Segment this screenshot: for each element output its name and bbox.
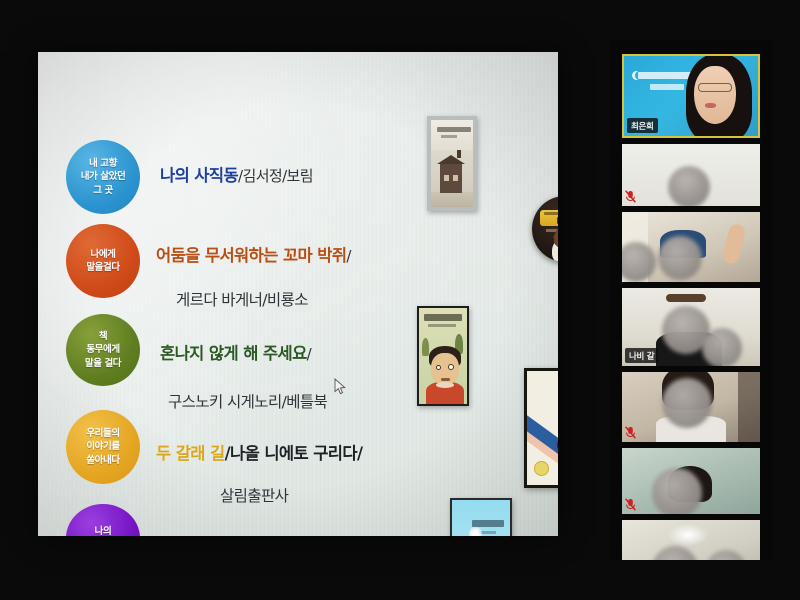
award-seal xyxy=(534,461,549,476)
circle-line: 나의 xyxy=(95,525,112,536)
mic-muted-icon xyxy=(625,190,636,203)
boy-mouth xyxy=(441,378,450,381)
circle-line: 내 고향 xyxy=(89,157,117,170)
presenter-lips xyxy=(705,103,716,108)
presenter-face xyxy=(694,66,736,124)
circle-line: 말을걸다 xyxy=(86,261,119,274)
video-tile-4[interactable]: 나비 갈 xyxy=(622,288,760,366)
blurred-face xyxy=(668,166,710,206)
book-slash: / xyxy=(307,345,311,363)
book-cover-dandelion xyxy=(450,498,512,536)
circle-hometown: 내 고향 내가 살았던 그 곳 xyxy=(66,140,140,214)
blurred-face xyxy=(702,328,742,366)
slide-text-line xyxy=(638,72,692,79)
blurred-face xyxy=(652,468,702,514)
book-author-publisher: 게르다 바게너/비룡소 xyxy=(176,288,308,310)
cover-title-bar xyxy=(544,212,558,215)
circle-line: 내가 살았던 xyxy=(81,170,126,183)
book-cover-two-roads xyxy=(524,368,558,488)
mouse-cursor-icon xyxy=(334,378,347,396)
cover-subtitle-bar xyxy=(441,135,457,138)
book-title: 어둠을 무서워하는 꼬마 박쥐 xyxy=(156,246,346,265)
book-title: 혼나지 않게 해 주세요 xyxy=(160,344,307,363)
cover-window xyxy=(444,175,449,181)
book-author-publisher: /김서정/보림 xyxy=(238,167,313,185)
room-light xyxy=(668,524,708,546)
book-entry-4: 두 갈래 길/나올 니에토 구리다/ xyxy=(156,440,362,464)
circle-line: 우리들의 xyxy=(86,427,119,440)
presenter-glasses xyxy=(698,83,732,92)
video-tile-presenter[interactable]: 최은희 xyxy=(622,54,760,138)
circle-self-talk: 나에게 말을걸다 xyxy=(66,224,140,298)
book-title: 나의 사직동 xyxy=(160,166,238,185)
participant-name-label: 최은희 xyxy=(627,118,658,133)
room-door xyxy=(738,372,760,442)
book-entry-3: 혼나지 않게 해 주세요/ xyxy=(160,340,311,364)
cover-tree xyxy=(422,338,429,356)
circle-book-friend: 책 동무에게 말을 걸다 xyxy=(66,314,140,386)
boy-eye-left xyxy=(436,365,441,370)
book-cover-dont-scold-me xyxy=(417,306,469,406)
road-figure xyxy=(557,441,558,450)
blurred-face xyxy=(658,236,702,280)
circle-line: 이야기를 xyxy=(86,440,119,453)
video-tile-7[interactable] xyxy=(622,520,760,560)
book-entry-5: 민들레는 민들레/김장성/이야기 꽃 xyxy=(148,532,361,536)
circle-line: 그 곳 xyxy=(93,184,113,197)
video-tile-2[interactable] xyxy=(622,144,760,206)
book-author-publisher: 구스노키 시게노리/베틀북 xyxy=(168,390,327,412)
circle-line: 쏟아내다 xyxy=(86,454,119,467)
video-tile-3[interactable] xyxy=(622,212,760,282)
boy-eye-right xyxy=(448,364,454,370)
participant-name-label: 나비 갈 xyxy=(625,348,658,363)
video-tile-6[interactable] xyxy=(622,448,760,514)
circle-line: 동무에게 xyxy=(86,343,119,356)
cover-title-bar xyxy=(472,520,504,527)
cover-title-word xyxy=(557,217,558,224)
blurred-face xyxy=(662,378,712,428)
video-participant-strip[interactable]: 최은희 나비 갈 xyxy=(610,40,772,560)
cover-subtitle-bar xyxy=(428,324,456,327)
cover-window xyxy=(453,175,458,181)
circle-line: 나에게 xyxy=(90,248,115,261)
book-slash: / xyxy=(346,247,350,265)
mic-muted-icon xyxy=(625,498,636,511)
book-entry-1: 나의 사직동/김서정/보림 xyxy=(160,162,313,186)
book-title: 두 갈래 길 xyxy=(156,444,225,463)
book-cover-little-bat xyxy=(532,196,558,262)
book-author: /나올 니에토 구리다/ xyxy=(225,444,363,463)
circle-our-story: 우리들의 이야기를 쏟아내다 xyxy=(66,410,140,484)
cover-title-bar xyxy=(424,314,462,321)
circle-line: 말을 걸다 xyxy=(85,357,121,370)
cover-ground xyxy=(431,192,473,207)
screenshot-root: 내 고향 내가 살았던 그 곳 나에게 말을걸다 책 동무에게 말을 걸다 우리… xyxy=(0,0,800,600)
dandelion-puff xyxy=(469,527,482,536)
participant-headband xyxy=(666,294,706,302)
book-cover-my-sajikdong xyxy=(427,116,477,211)
slide-text-line xyxy=(650,84,684,90)
cover-chimney xyxy=(457,150,461,158)
cover-title-bar xyxy=(437,127,471,132)
circle-line: 책 xyxy=(99,330,107,343)
circle-identity: 나의 주체성 xyxy=(66,504,140,536)
book-entry-2: 어둠을 무서워하는 꼬마 박쥐/ xyxy=(156,242,351,266)
projected-slide: 내 고향 내가 살았던 그 곳 나에게 말을걸다 책 동무에게 말을 걸다 우리… xyxy=(38,52,558,536)
video-tile-5[interactable] xyxy=(622,372,760,442)
boy-collar xyxy=(436,382,454,388)
mic-muted-icon xyxy=(625,426,636,439)
book-publisher: 살림출판사 xyxy=(220,484,288,506)
